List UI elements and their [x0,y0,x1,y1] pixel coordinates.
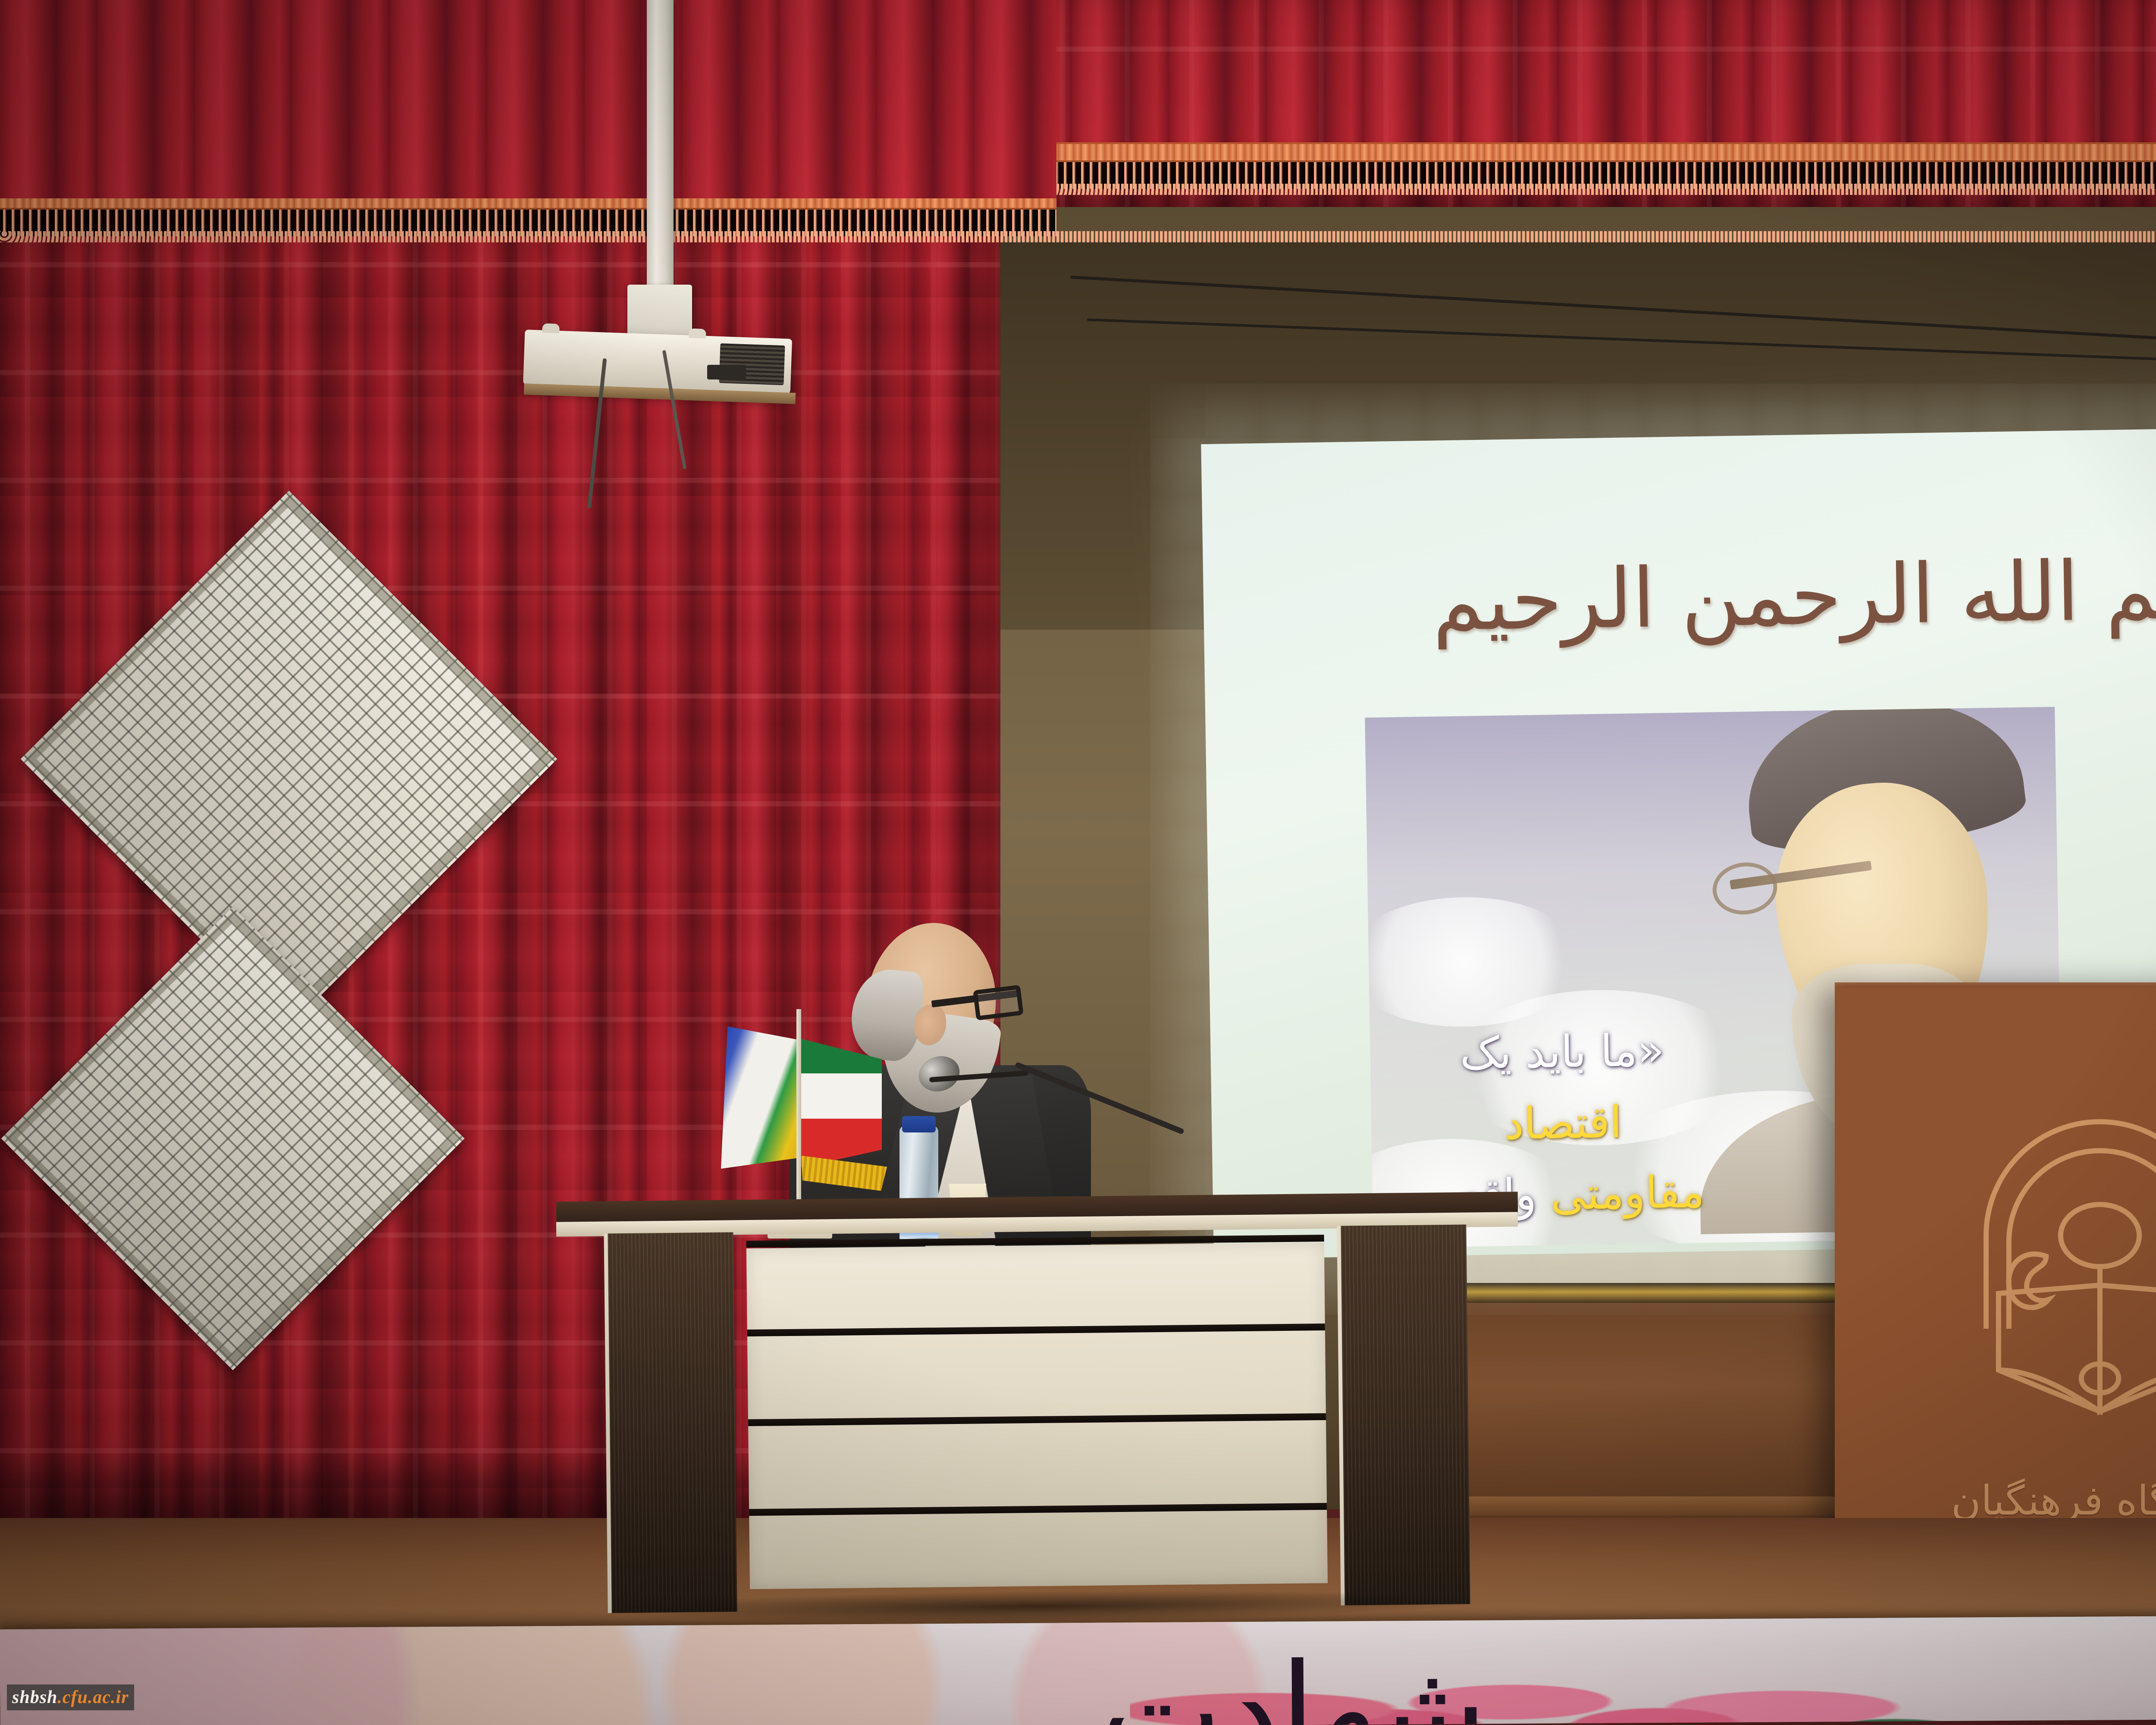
valance-bead-fringe [0,210,1056,236]
desk-leg-left [604,1232,737,1613]
secondary-flag [721,1026,803,1169]
watermark-secondary: .cfu.ac.ir [57,1687,128,1707]
desk-front-panel [746,1242,1328,1589]
portrait-lens [1710,859,1780,918]
flag-pole [796,1009,801,1225]
projector-foot [542,323,560,333]
projector-mount-pole [647,0,674,302]
valance-segment-right [1035,142,2156,233]
iran-flag [800,1038,882,1168]
desk-panel-slot [748,1413,1326,1426]
water-bottle-cap [902,1116,936,1132]
desk-panel-slot [747,1324,1325,1336]
speaker-desk [604,1225,1470,1613]
projector-foot [689,328,706,338]
university-logo-text: دانشگاه فرهنگیان [1945,1477,2156,1524]
university-logo: دانشگاه فرهنگیان [1945,1110,2156,1533]
site-watermark: shbsh.cfu.ac.ir [7,1684,134,1710]
desk-panel-slot [746,1235,1324,1248]
quote-highlight-moghavemati: مقاومتی [1550,1167,1705,1220]
speaker-glasses-lens [973,985,1024,1021]
desk-panel-slot [749,1503,1327,1516]
quote-highlight-eghtesad: اقتصاد [1384,1085,1742,1162]
desk-leg-right [1337,1225,1470,1606]
projector-plug [707,365,746,379]
slide-bismillah-text: بسم الله الرحمن الرحيم [1432,538,2156,653]
watermark-primary: shbsh [12,1687,57,1707]
valance-bead-fringe [1035,162,2156,189]
scene-root: بسم الله الرحمن الرحيم «ما باید یک اقتصا… [0,0,2156,1725]
arch-book-flame-icon [1945,1110,2156,1464]
valance-drop-left [0,0,1056,198]
event-banner: شهادت [0,1614,2156,1725]
valance-segment-left [0,190,1056,276]
valance-trim [1035,142,2156,162]
quote-line-1: «ما باید یک [1382,1014,1741,1091]
